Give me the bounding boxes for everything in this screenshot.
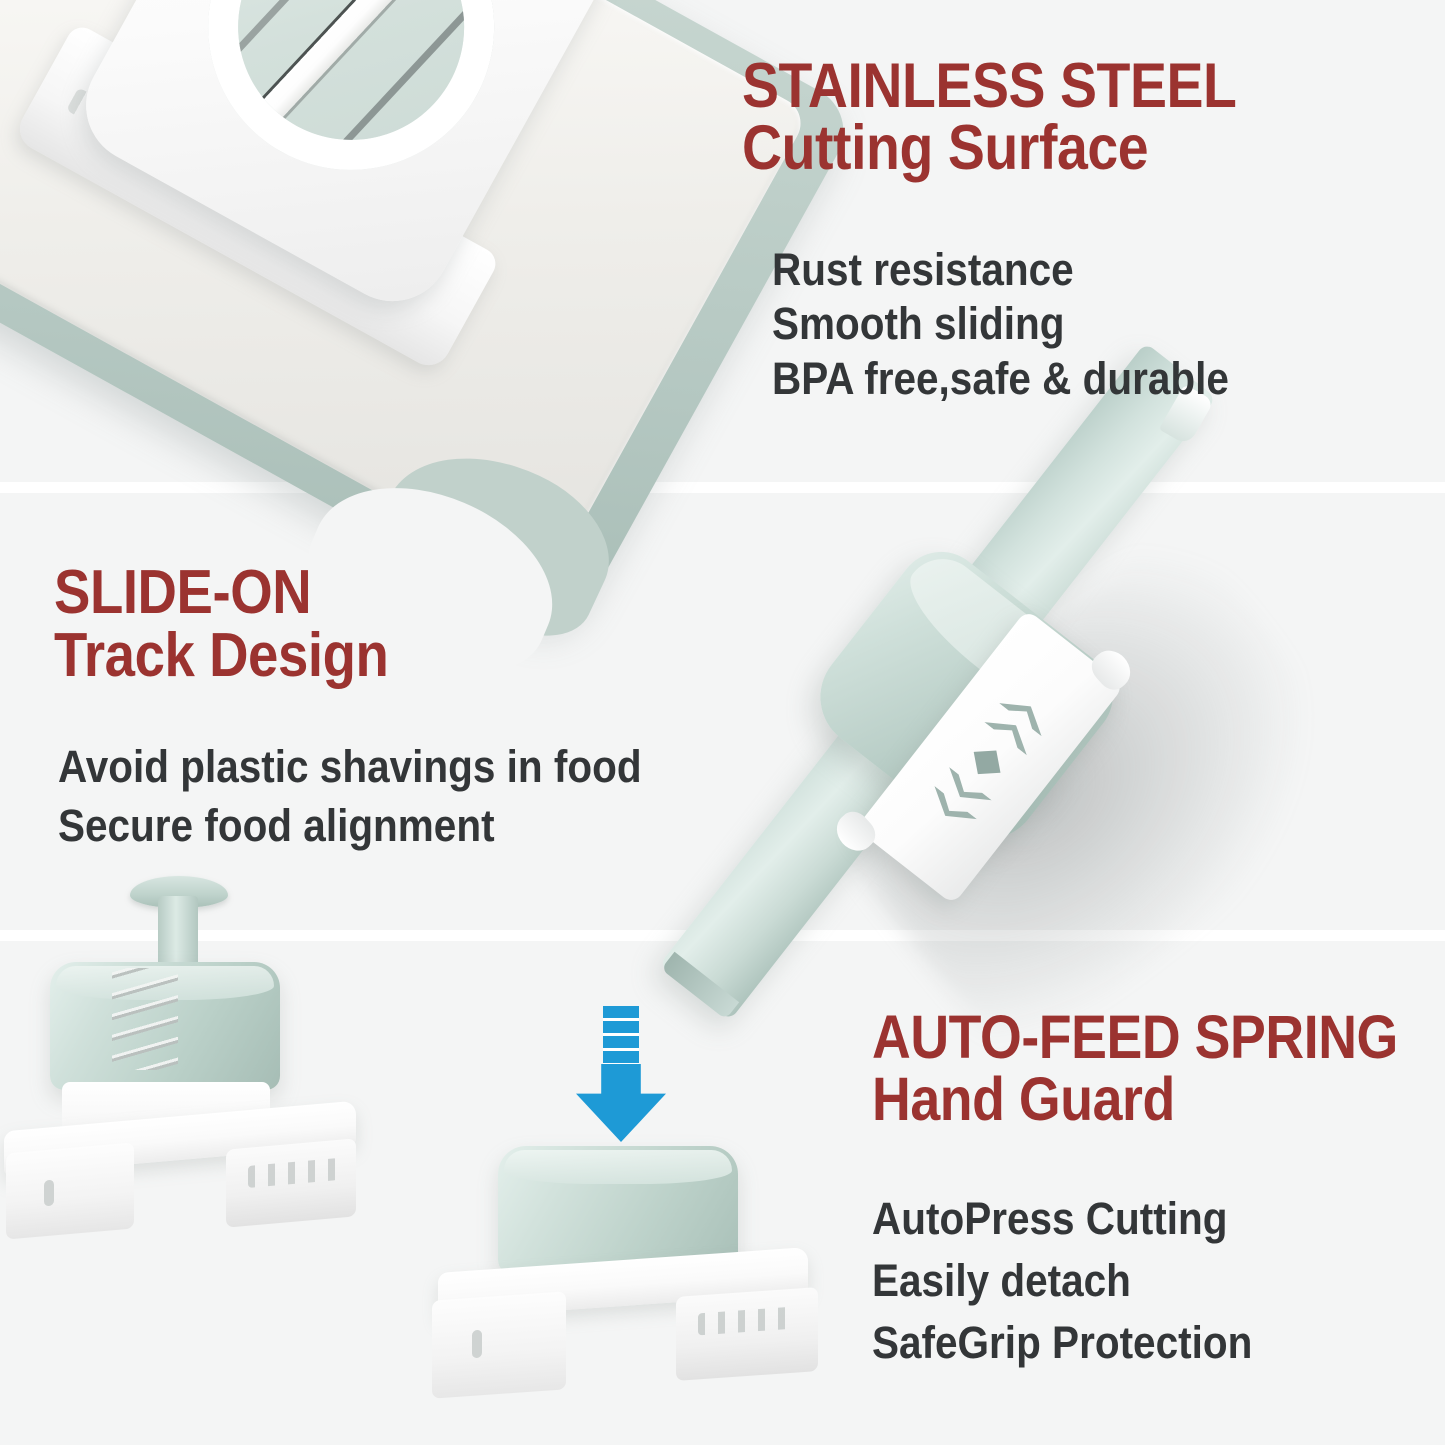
detached-spring-base-image bbox=[420, 1128, 840, 1428]
section-2-headline-line2: Track Design bbox=[54, 626, 388, 686]
section-2-headline: SLIDE-ON Track Design bbox=[54, 563, 388, 685]
section-1-bullet-3: BPA free,safe & durable bbox=[772, 352, 1229, 406]
section-3-bullet-2: Easily detach bbox=[872, 1250, 1252, 1312]
section-1-bullet-1: Rust resistance bbox=[772, 243, 1229, 297]
section-1-headline-line2: Cutting Surface bbox=[742, 118, 1236, 178]
section-1-bullets: Rust resistance Smooth sliding BPA free,… bbox=[772, 243, 1229, 406]
section-3-headline-line1: AUTO-FEED SPRING bbox=[872, 1008, 1398, 1067]
arrow-head bbox=[576, 1064, 666, 1142]
hand-guard-image bbox=[690, 300, 1445, 1090]
detached-white-bracket-base bbox=[420, 1260, 820, 1410]
spring-plunger-stem bbox=[158, 896, 198, 970]
section-3-headline-line2: Hand Guard bbox=[872, 1070, 1398, 1129]
bracket-left-leg bbox=[6, 1142, 134, 1239]
section-2-bullet-1: Avoid plastic shavings in food bbox=[58, 738, 642, 797]
detached-cylinder-top-highlight bbox=[504, 1150, 732, 1184]
section-2-bullets: Avoid plastic shavings in food Secure fo… bbox=[58, 738, 642, 855]
section-2-headline-line1: SLIDE-ON bbox=[54, 563, 388, 623]
auto-feed-spring-image bbox=[0, 868, 400, 1308]
section-1-headline: STAINLESS STEEL Cutting Surface bbox=[742, 56, 1236, 179]
section-2-bullet-2: Secure food alignment bbox=[58, 797, 642, 856]
section-1-bullet-2: Smooth sliding bbox=[772, 297, 1229, 351]
spring-white-bracket-base bbox=[4, 1116, 356, 1236]
detached-bracket-right-leg bbox=[676, 1287, 818, 1381]
detached-bracket-left-leg bbox=[432, 1291, 566, 1398]
section-3-bullet-1: AutoPress Cutting bbox=[872, 1188, 1252, 1250]
detached-bracket-slot bbox=[472, 1330, 482, 1359]
product-feature-infographic: STAINLESS STEEL Cutting Surface Rust res… bbox=[0, 0, 1445, 1445]
diamond-grip-icon bbox=[964, 740, 1009, 785]
section-3-bullet-3: SafeGrip Protection bbox=[872, 1312, 1252, 1374]
arrow-shaft bbox=[603, 1006, 639, 1068]
bracket-slot bbox=[44, 1180, 54, 1207]
section-3-bullets: AutoPress Cutting Easily detach SafeGrip… bbox=[872, 1188, 1252, 1374]
section-3-headline: AUTO-FEED SPRING Hand Guard bbox=[872, 1008, 1398, 1128]
section-1-headline-line1: STAINLESS STEEL bbox=[742, 56, 1236, 116]
metal-coil-spring bbox=[112, 968, 178, 1070]
press-down-arrow-icon bbox=[576, 1006, 666, 1142]
